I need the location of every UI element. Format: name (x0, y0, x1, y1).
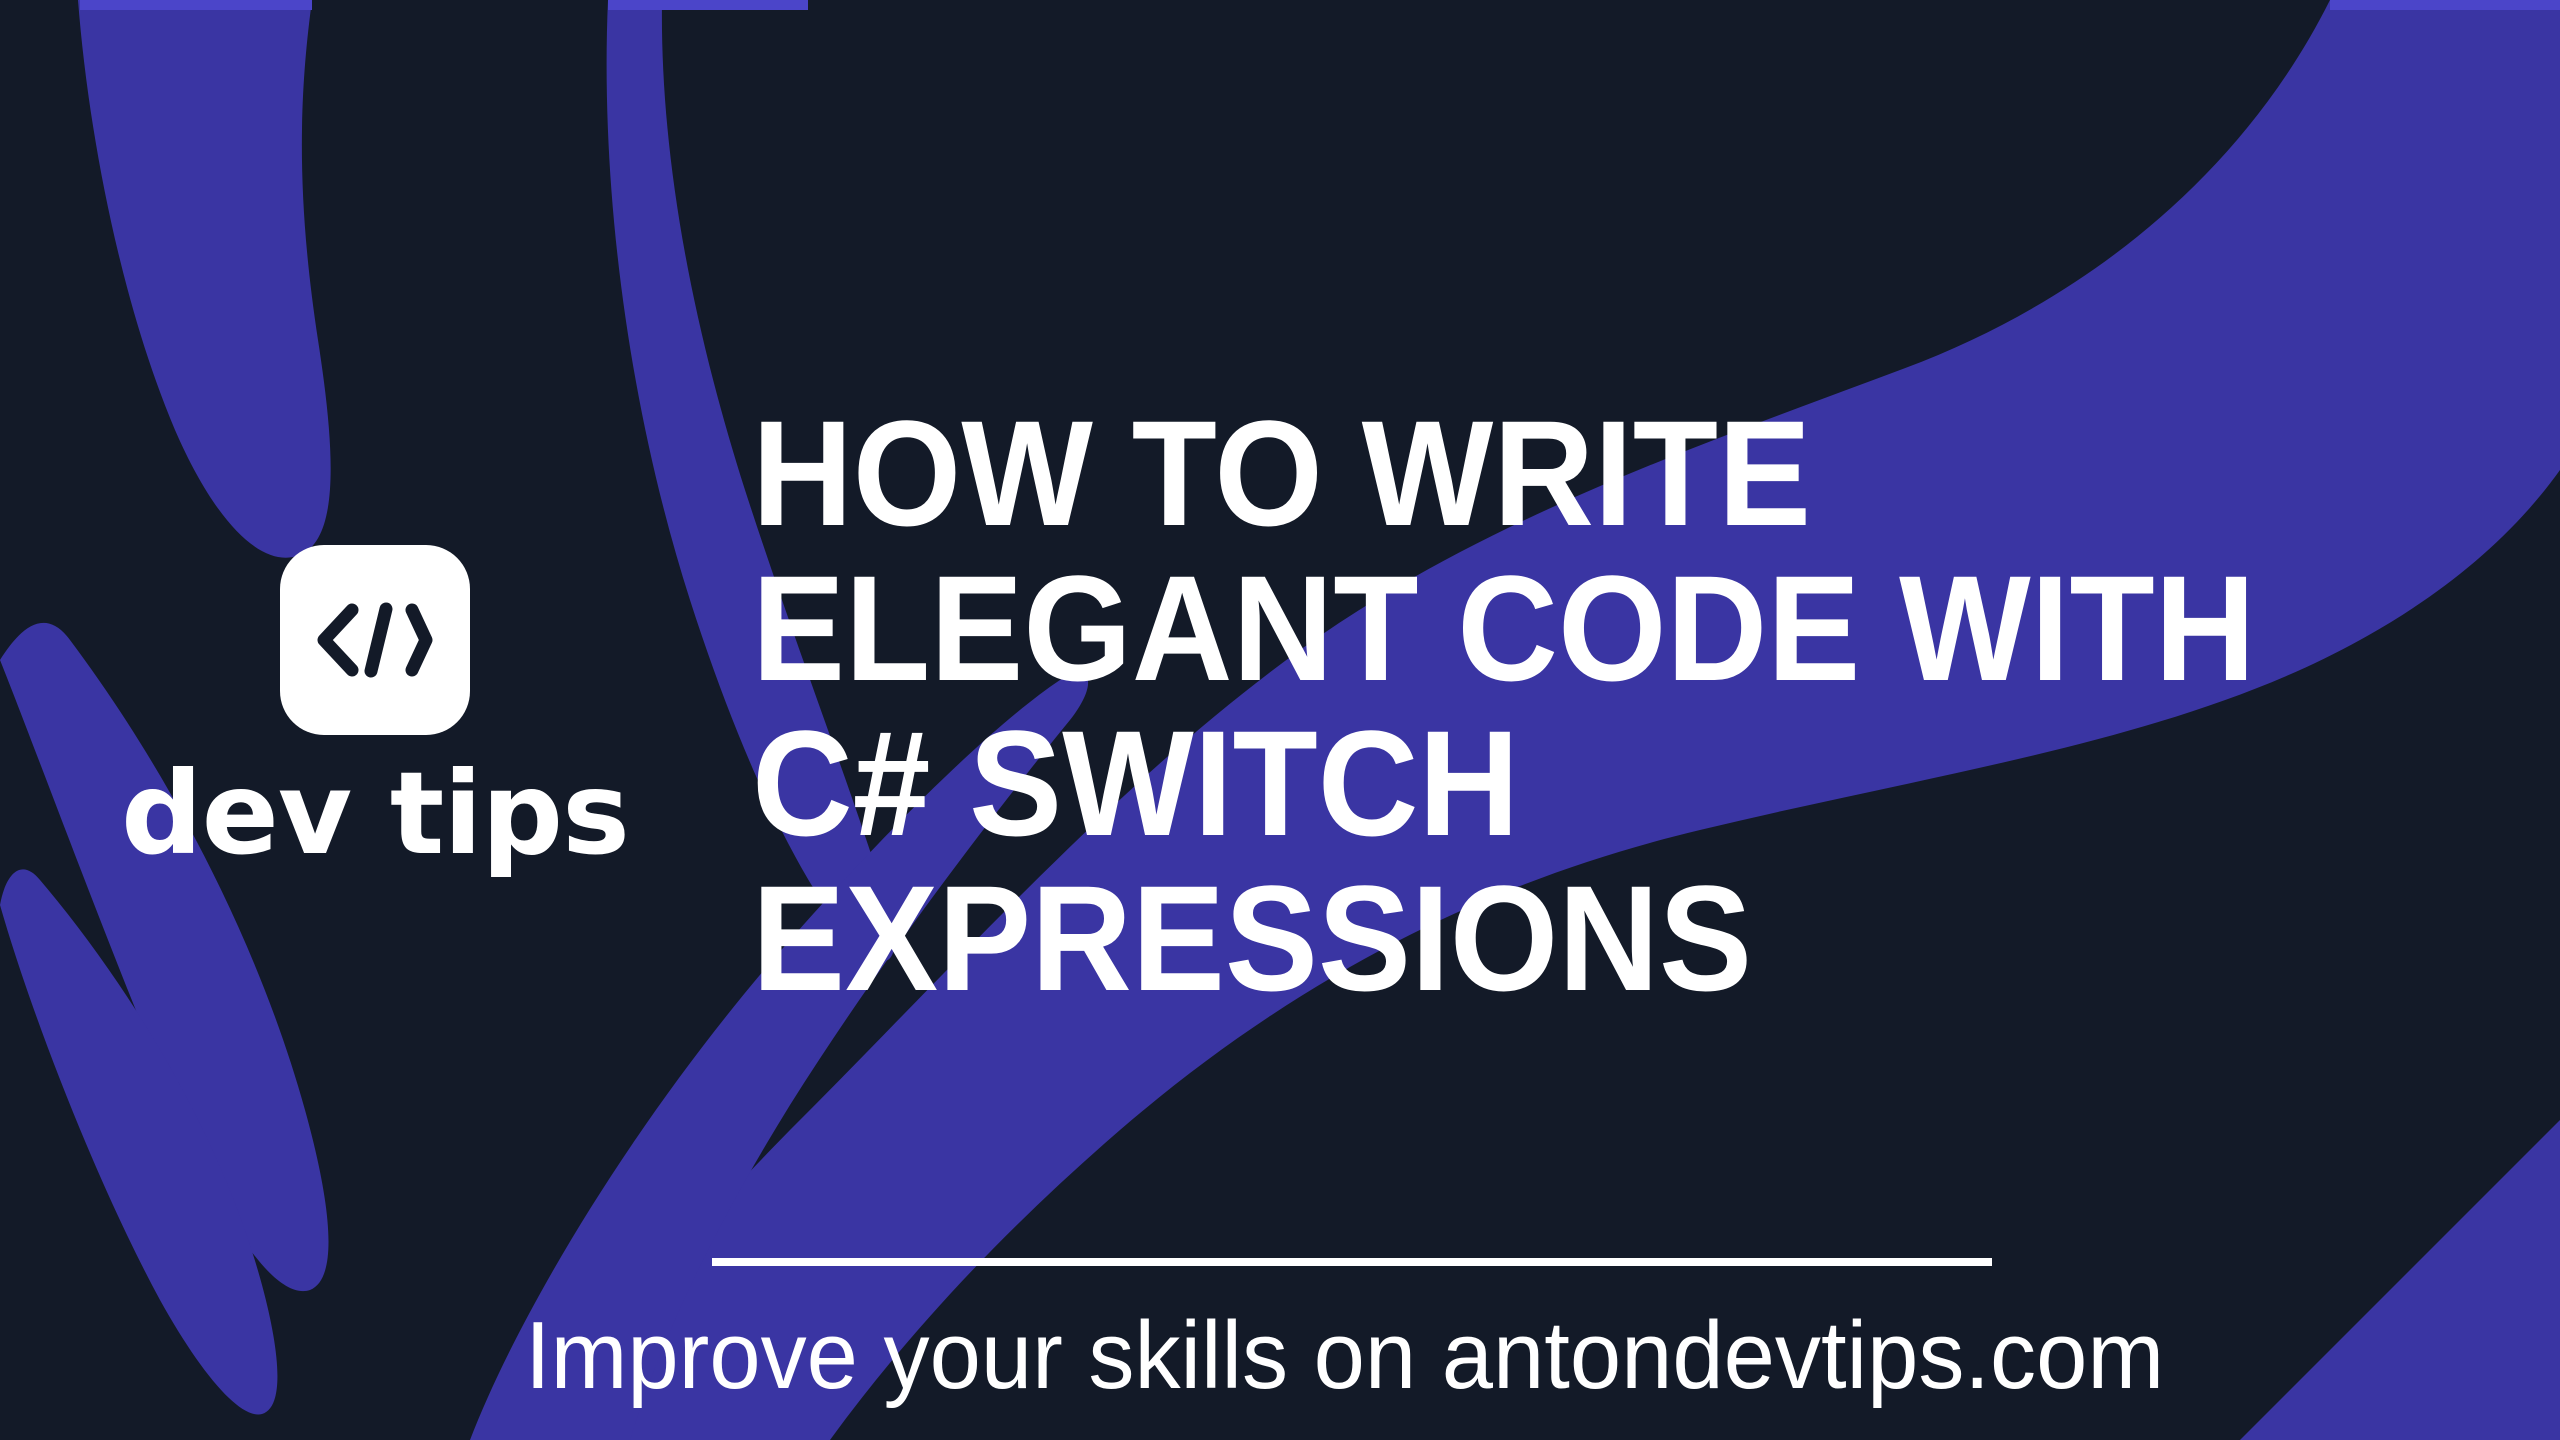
headline: HOW TO WRITE ELEGANT CODE WITH C# SWITCH… (752, 396, 2417, 1016)
headline-line-3: C# SWITCH (752, 706, 2417, 861)
headline-line-1: HOW TO WRITE (752, 396, 2417, 551)
headline-line-4: EXPRESSIONS (752, 861, 2417, 1016)
logo-tile (280, 545, 470, 735)
top-accent-sliver-left (80, 0, 312, 10)
code-brackets-icon (316, 600, 434, 680)
horizontal-rule (712, 1258, 1992, 1266)
top-accent-sliver-mid (608, 0, 808, 10)
logo-wordmark: dev tips (121, 757, 629, 871)
headline-line-2: ELEGANT CODE WITH (752, 551, 2417, 706)
brand-logo: dev tips (110, 545, 640, 915)
social-card: dev tips HOW TO WRITE ELEGANT CODE WITH … (0, 0, 2560, 1440)
top-accent-sliver-right (2330, 0, 2560, 10)
footer-tagline: Improve your skills on antondevtips.com (525, 1300, 2301, 1412)
